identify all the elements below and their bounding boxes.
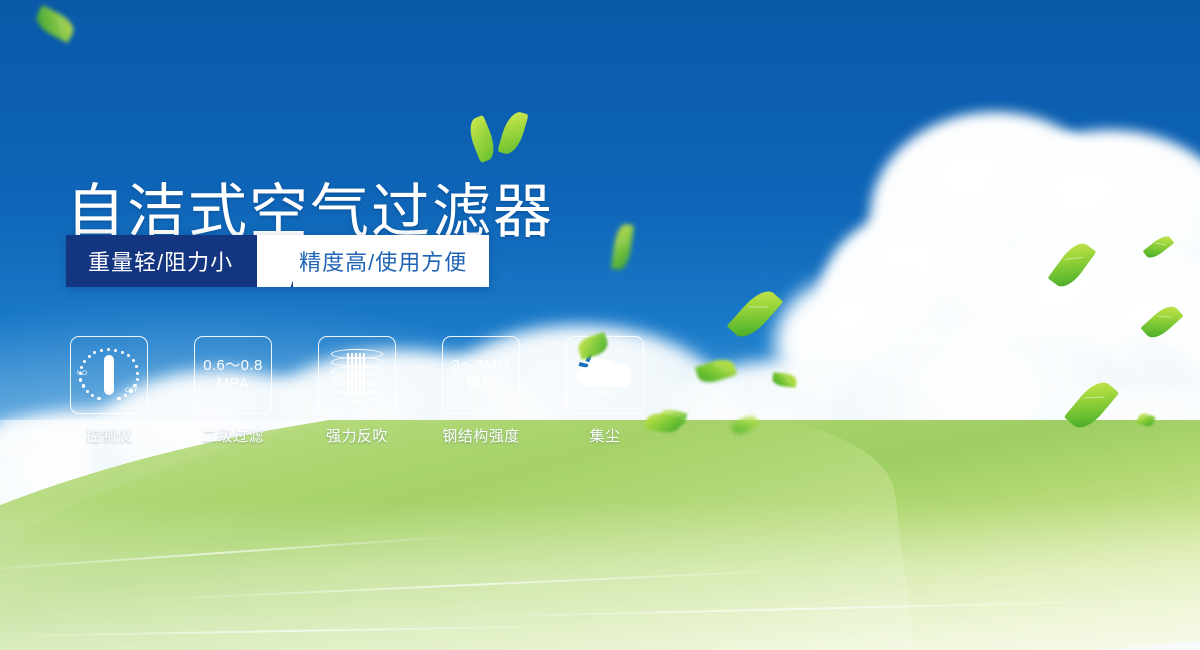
feature-item-controller[interactable]: NO OFF (70, 336, 148, 446)
badge-right: 精度高/使用方便 (293, 235, 489, 287)
feature-icon-box: NO OFF (70, 336, 148, 414)
feature-item-two-stage-filter[interactable]: 0.6～0.8 MPA 二级过滤 (194, 336, 272, 446)
pressure-value-line-2: MPA (217, 375, 250, 393)
feature-item-steel-strength[interactable]: 3～8MM 钢板 钢结构强度 (442, 336, 520, 446)
filter-cartridge-icon (331, 349, 383, 401)
plate-value-line-1: 3～8MM (452, 357, 511, 375)
badge-left: 重量轻/阻力小 (66, 235, 257, 287)
plate-value-line-2: 钢板 (466, 375, 497, 393)
air-label: Air (575, 387, 635, 399)
page-title: 自洁式空气过滤器 (66, 183, 554, 242)
feature-label: 二级过滤 (202, 425, 264, 446)
feature-item-dust-collection[interactable]: Air 集尘 (566, 336, 644, 446)
feature-icon-box (318, 336, 396, 414)
cloud-right-cumulus (810, 112, 1200, 442)
feature-list: NO OFF (70, 336, 644, 446)
gauge-needle (104, 355, 114, 395)
hero-banner: 自洁式空气过滤器 重量轻/阻力小 精度高/使用方便 NO OFF (0, 0, 1200, 650)
sprout-leaves-icon (470, 108, 540, 166)
feature-icon-box: 3～8MM 钢板 (442, 336, 520, 414)
gauge-icon: NO OFF (78, 346, 140, 404)
feature-label: 强力反吹 (326, 425, 388, 446)
feature-label: 钢结构强度 (442, 425, 520, 446)
feature-label: 集尘 (589, 425, 620, 446)
subtitle-badge-bar: 重量轻/阻力小 精度高/使用方便 (66, 235, 489, 287)
feature-label: 控制仪 (86, 425, 133, 446)
grass-field (0, 420, 1200, 650)
pressure-value-line-1: 0.6～0.8 (203, 357, 263, 375)
feature-icon-box: 0.6～0.8 MPA (194, 336, 272, 414)
badge-divider (257, 235, 293, 287)
feature-item-strong-backblow[interactable]: 强力反吹 (318, 336, 396, 446)
